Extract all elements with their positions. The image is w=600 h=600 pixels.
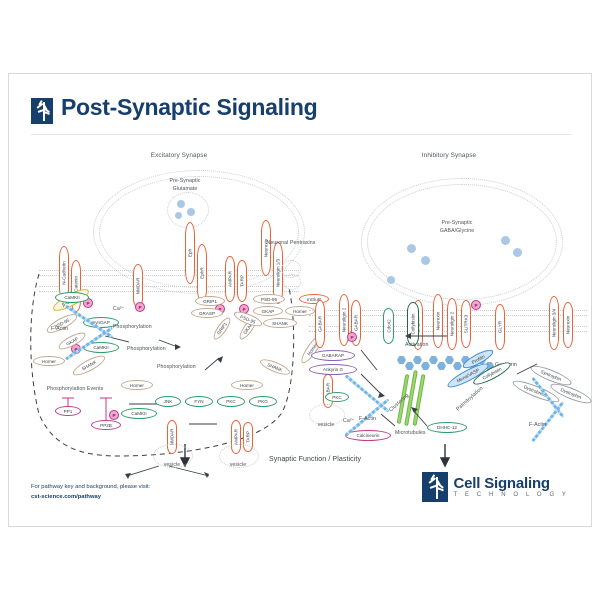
node-shank[interactable]: SHANK — [263, 318, 297, 328]
neurotransmitter-dot — [175, 212, 182, 219]
node-pkg[interactable]: PKG — [249, 396, 277, 407]
vesicle-label: vesicle — [230, 462, 247, 468]
annotation-microtubules: Microtubules — [395, 430, 426, 436]
annotation-phosphorylation: Phosphorylation — [157, 364, 196, 370]
annotation-phosphorylation: Phosphorylation — [113, 324, 152, 330]
neurotransmitter-dot — [501, 236, 510, 245]
annotation-f-actin: F-Actin — [51, 326, 68, 332]
annotation-calcium: Ca²⁺ — [343, 418, 355, 424]
gephyrin-subunit — [429, 356, 438, 364]
receptor-neurexin[interactable]: Neurexin — [261, 220, 271, 276]
node-camkii[interactable]: CaMKII — [121, 408, 157, 419]
node-grip1[interactable]: GRIP1 — [195, 296, 225, 306]
annotation-calcium: Ca²⁺ — [113, 306, 125, 312]
tree-icon — [31, 98, 53, 124]
footer-cta-line1: For pathway key and background, please v… — [31, 482, 150, 492]
gephyrin-subunit — [445, 356, 454, 364]
receptor-neurexin[interactable]: Neurexin — [433, 294, 443, 348]
gephyrin-subunit — [421, 362, 430, 370]
poster-canvas: Post-Synaptic Signaling Excitatory Synap… — [8, 73, 592, 527]
node-ankyrin-g[interactable]: Ankyrin G — [309, 364, 357, 375]
node-gabarap[interactable]: GABARAP — [311, 350, 355, 361]
phospho-badge: P — [109, 410, 119, 420]
presynaptic-terminal-inner-inhibitory — [367, 184, 557, 300]
neurotransmitter-dot — [407, 244, 416, 253]
node-homer[interactable]: Homer — [33, 356, 65, 366]
receptor-ephr[interactable]: EphR — [197, 244, 207, 302]
receptor-gabar-vesicle[interactable]: GABAR — [323, 374, 333, 408]
node-jnk[interactable]: JNK — [155, 396, 181, 407]
node-psd95[interactable]: PSD-95 — [44, 311, 79, 337]
annotation-phosphorylation: Phosphorylation — [127, 346, 166, 352]
node-mglur[interactable]: mGluR — [299, 294, 329, 304]
node-dhhc-12[interactable]: DHHC-12 — [427, 422, 467, 433]
neurotransmitter-dot — [177, 200, 185, 208]
node-pp1[interactable]: PP1 — [55, 406, 81, 416]
gephyrin-subunit — [405, 362, 414, 370]
footer-cta-link[interactable]: cst-science.com/pathway — [31, 494, 101, 500]
cst-subwordmark: T E C H N O L O G Y — [454, 492, 569, 498]
node-grip1[interactable]: GRIP1 — [211, 315, 233, 341]
node-camkii[interactable]: CaMKII — [55, 292, 89, 303]
node-shank[interactable]: SHANK — [258, 356, 291, 377]
receptor-neuroligin-2[interactable]: Neuroligin 2 — [447, 298, 457, 350]
node-fyn[interactable]: FYN — [185, 396, 213, 407]
pentraxin-cluster — [283, 274, 301, 290]
annotation-neuronal-pentraxins: Neuronal Pentraxins — [267, 240, 316, 248]
node-pkc[interactable]: PKC — [325, 392, 349, 402]
bottom-caption: Synaptic Function / Plasticity — [269, 456, 361, 463]
node-collybistin[interactable]: Collybistin — [407, 302, 419, 346]
receptor-neuroligin-3-4[interactable]: Neuroligin 3/4 — [549, 296, 559, 350]
annotation-phosphorylation-events: Phosphorylation Events — [47, 386, 104, 394]
node-pp2b[interactable]: PP2B — [91, 420, 121, 430]
title-divider — [31, 134, 571, 135]
neurotransmitter-dot — [513, 248, 522, 257]
gephyrin-subunit — [453, 362, 462, 370]
neurotransmitter-dot — [187, 208, 195, 216]
cst-wordmark: Cell Signaling — [454, 476, 569, 492]
presynaptic-label-inhibitory: Pre-Synaptic GABA/Glycine — [440, 220, 474, 236]
receptor-eph[interactable]: Eph — [185, 222, 195, 284]
footer-cta: For pathway key and background, please v… — [31, 482, 150, 503]
receptor-ampar[interactable]: AMPAR — [225, 256, 235, 302]
node-homer[interactable]: Homer — [121, 380, 153, 390]
receptor-slitrk3[interactable]: SLITRK3 — [461, 300, 471, 348]
node-homer[interactable]: Homer — [231, 380, 263, 390]
neurotransmitter-dot — [421, 256, 430, 265]
receptor-neurexin[interactable]: Neurexin — [563, 302, 573, 348]
gephyrin-subunit — [397, 356, 406, 364]
section-label-inhibitory: Inhibitory Synapse — [422, 152, 476, 159]
node-shank[interactable]: SHANK — [71, 352, 108, 379]
receptor-gabar[interactable]: GABAR — [315, 300, 325, 348]
gephyrin-subunit — [437, 362, 446, 370]
annotation-activation: Activation — [405, 342, 429, 348]
annotation-palmitoylation: Palmitoylation — [455, 385, 484, 412]
node-gkap[interactable]: GKAP — [253, 306, 283, 316]
receptor-glyr[interactable]: GLYR — [495, 304, 505, 350]
section-label-excitatory: Excitatory Synapse — [151, 152, 208, 159]
receptor-tarp[interactable]: TARP — [237, 260, 247, 302]
node-psd95[interactable]: PSD-95 — [253, 294, 285, 304]
f-actin-filament — [345, 374, 390, 412]
annotation-f-actin: F-Actin — [529, 422, 546, 428]
page-title: Post-Synaptic Signaling — [61, 94, 317, 121]
tree-icon — [422, 472, 448, 502]
neurotransmitter-dot — [387, 276, 395, 284]
annotation-f-actin: F-Actin — [359, 416, 376, 422]
vesicle-label: vesicle — [318, 422, 335, 428]
vesicle-label: vesicle — [164, 462, 181, 468]
phospho-badge: P — [471, 300, 481, 310]
phospho-badge: P — [135, 302, 145, 312]
node-grasp[interactable]: GRASP — [191, 308, 223, 318]
node-cdc42[interactable]: Cdc42 — [383, 308, 394, 344]
cst-logo: Cell Signaling T E C H N O L O G Y — [422, 472, 569, 502]
phospho-badge: P — [347, 332, 357, 342]
gephyrin-subunit — [413, 356, 422, 364]
node-pkc[interactable]: PKC — [217, 396, 245, 407]
